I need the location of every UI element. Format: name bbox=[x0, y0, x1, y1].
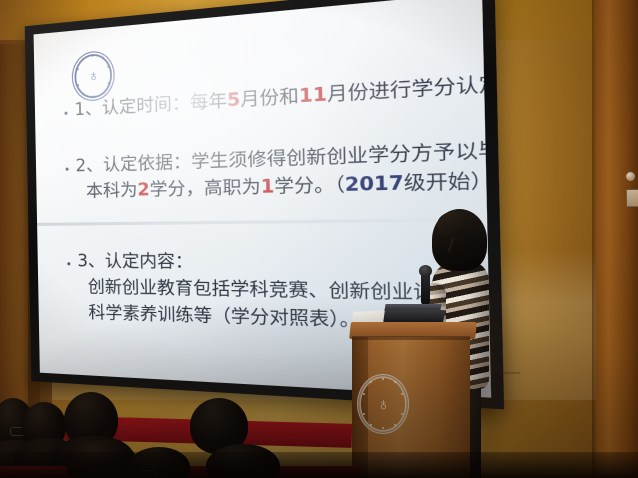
seg-year-2017: 2017 bbox=[345, 171, 404, 194]
bullet-1-line-1: 1、认定时间：每年5月份和11月份进行学分认定 bbox=[74, 70, 491, 123]
wall-knob-icon[interactable] bbox=[626, 172, 635, 181]
slide-spacer bbox=[66, 202, 474, 250]
seg-text: 本科为 bbox=[86, 179, 138, 200]
speaker-hair-fringe bbox=[437, 212, 465, 236]
university-seal-podium: ♁ bbox=[357, 374, 409, 434]
seal-ring-dots bbox=[358, 375, 408, 433]
seg-text: 级开始） bbox=[404, 169, 492, 194]
seg-month-nov: 11 bbox=[299, 84, 328, 107]
foreground-shadow bbox=[0, 452, 638, 478]
right-door-panel bbox=[596, 0, 638, 478]
slide-content: 1、认定时间：每年5月份和11月份进行学分认定 2、认定依据：学生须修得创新创业… bbox=[64, 72, 476, 339]
lecture-hall-photo: ♁ 1、认定时间：每年5月份和11月份进行学分认定 bbox=[0, 0, 638, 478]
podium-edge-bevel bbox=[352, 336, 470, 340]
slide-bullet-2: 2、认定依据：学生须修得创新创业学分方予以毕业， 本科为2学分，高职为1学分。（… bbox=[65, 137, 472, 204]
seg-text: 科学素养训练等（学分对照表）。 bbox=[88, 302, 360, 330]
seg-text: 3、认定内容： bbox=[77, 251, 193, 272]
bullet-dot-icon bbox=[67, 263, 70, 266]
seg-text: 学分，高职为 bbox=[149, 176, 260, 199]
bullet-dot-icon bbox=[66, 167, 69, 170]
seg-month-may: 5 bbox=[227, 89, 241, 111]
university-seal-logo: ♁ bbox=[71, 50, 115, 103]
slide-bullet-1: 1、认定时间：每年5月份和11月份进行学分认定 bbox=[64, 72, 470, 124]
bullet-dot-icon bbox=[65, 112, 68, 115]
seg-credits-undergrad: 2 bbox=[137, 179, 150, 199]
light-switch-plate[interactable] bbox=[626, 189, 638, 207]
seal-ring-dots bbox=[72, 51, 114, 101]
seg-text: 学分。（ bbox=[274, 173, 345, 196]
seg-text: 月份进行学分认定 bbox=[327, 72, 491, 105]
seg-credits-vocational: 1 bbox=[260, 175, 274, 196]
seg-text: 月份和 bbox=[240, 85, 299, 110]
microphone-head-icon bbox=[419, 265, 432, 277]
